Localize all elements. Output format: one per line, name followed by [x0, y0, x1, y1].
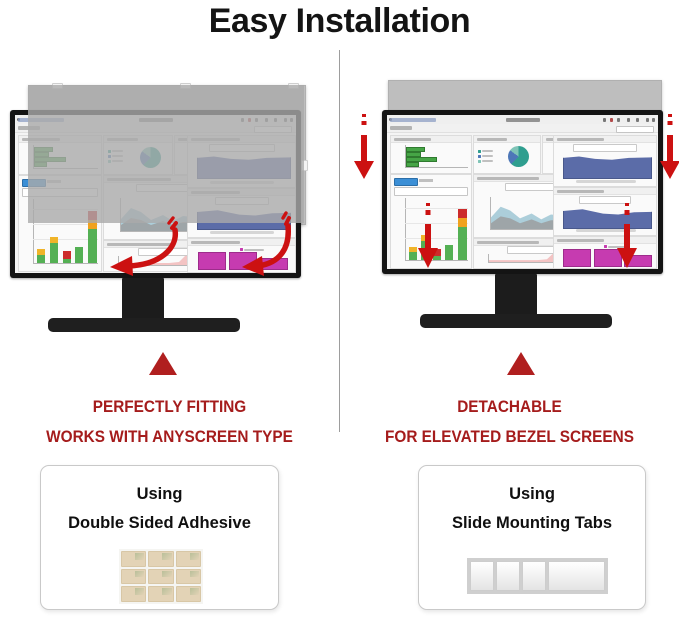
- page-title: Easy Installation: [0, 2, 679, 41]
- monitor-neck-right: [495, 274, 537, 318]
- slide-mounting-tab-strip: [467, 558, 608, 594]
- right-caption-line2: FOR ELEVATED BEZEL SCREENS: [352, 422, 667, 452]
- left-caption-line2: WORKS WITH ANYSCREEN TYPE: [12, 422, 327, 452]
- adhesive-pad: [121, 569, 146, 585]
- adhesive-pad: [148, 551, 173, 567]
- adhesive-pad: [148, 586, 173, 602]
- monitor-base-right: [420, 314, 612, 328]
- adhesive-pads-grid: [119, 549, 203, 604]
- mounting-tab: [522, 561, 546, 591]
- adhesive-pad: [148, 569, 173, 585]
- right-caption: DETACHABLE FOR ELEVATED BEZEL SCREENS: [352, 392, 667, 452]
- right-card-line1: Using: [419, 485, 645, 504]
- right-monitor-illustration: [340, 60, 679, 350]
- installation-infographic: Easy Installation: [0, 0, 679, 620]
- mounting-tab: [470, 561, 494, 591]
- triangle-marker-left: [149, 352, 177, 375]
- right-caption-line1: DETACHABLE: [352, 392, 667, 422]
- right-method-card: Using Slide Mounting Tabs: [418, 465, 646, 610]
- curved-arrow-right: [0, 60, 339, 350]
- left-monitor-illustration: [0, 60, 339, 350]
- left-method-card: Using Double Sided Adhesive: [40, 465, 279, 610]
- adhesive-pad: [176, 569, 201, 585]
- mounting-tab: [496, 561, 520, 591]
- adhesive-pad: [176, 551, 201, 567]
- monitor-base-left: [48, 318, 240, 332]
- adhesive-pad: [121, 551, 146, 567]
- left-card-line2: Double Sided Adhesive: [41, 514, 278, 533]
- adhesive-pad: [176, 586, 201, 602]
- adhesive-pad: [121, 586, 146, 602]
- left-card-line1: Using: [41, 485, 278, 504]
- monitor-neck-left: [122, 278, 164, 322]
- right-card-line2: Slide Mounting Tabs: [419, 514, 645, 533]
- left-caption: PERFECTLY FITTING WORKS WITH ANYSCREEN T…: [12, 392, 327, 452]
- triangle-marker-right: [507, 352, 535, 375]
- left-caption-line1: PERFECTLY FITTING: [12, 392, 327, 422]
- mounting-tab: [548, 561, 605, 591]
